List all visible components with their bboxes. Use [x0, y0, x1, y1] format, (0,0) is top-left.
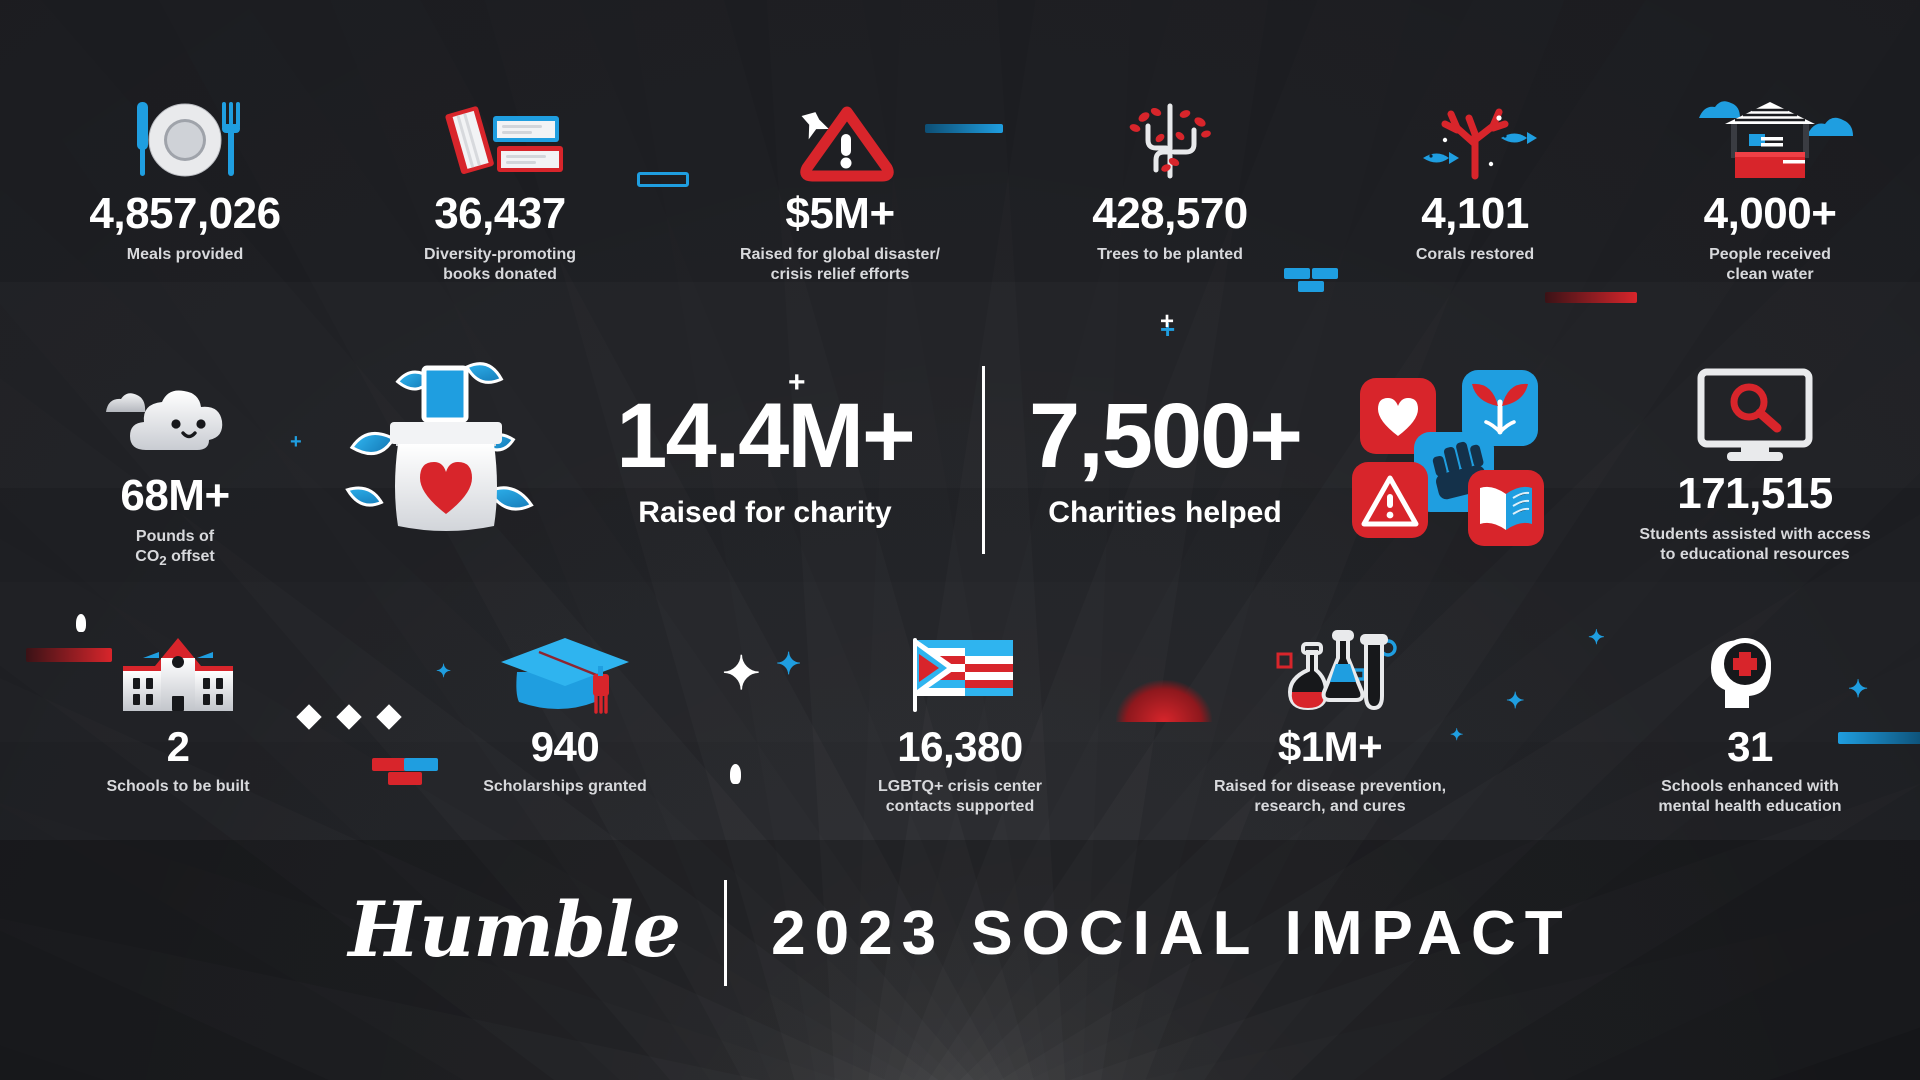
stat-disease-research: $1M+ Raised for disease prevention, rese…	[1180, 630, 1480, 818]
sparkle-icon: ✦	[1506, 690, 1524, 712]
stat-label: Schools enhanced with mental health educ…	[1600, 777, 1900, 818]
infographic-poster: 4,857,026 Meals provided	[0, 0, 1920, 1080]
decor-bar	[372, 758, 406, 771]
stat-value: 171,515	[1590, 472, 1920, 516]
stat-value: $1M+	[1180, 726, 1480, 768]
stat-value: 16,380	[820, 726, 1100, 768]
stat-value: 4,101	[1350, 192, 1600, 236]
stat-label-line2: clean water	[1726, 266, 1813, 283]
coral-fish-icon	[1350, 96, 1600, 180]
stat-label: Diversity-promoting books donated	[370, 245, 630, 286]
decor-outline-bar	[637, 172, 689, 187]
decor-bar	[1298, 281, 1324, 292]
stat-label: Raised for global disaster/ crisis relie…	[700, 245, 980, 286]
stat-label: Schools to be built	[58, 777, 298, 797]
stat-label-line2: crisis relief efforts	[771, 266, 910, 283]
lab-flasks-icon	[1180, 630, 1480, 714]
stat-value: 31	[1600, 726, 1900, 768]
books-icon	[370, 96, 630, 180]
footer: Humble 2023 SOCIAL IMPACT	[0, 880, 1920, 986]
stat-label-line1: People received	[1709, 246, 1831, 263]
stat-label: Raised for disease prevention, research,…	[1180, 777, 1480, 818]
plate-cutlery-icon	[60, 96, 310, 180]
head-medical-cross-icon	[1600, 630, 1900, 714]
stat-label-line1: Pounds of	[136, 528, 214, 545]
stat-value: 36,437	[370, 192, 630, 236]
water-well-icon	[1640, 96, 1900, 180]
stat-label: Meals provided	[60, 245, 310, 265]
stat-charities-helped: 7,500+ Charities helped	[1020, 390, 1310, 530]
stat-label: Trees to be planted	[1030, 245, 1310, 265]
decor-bar	[1312, 268, 1338, 279]
stat-disaster-relief: $5M+ Raised for global disaster/ crisis …	[700, 96, 980, 286]
sparkle-icon: ✦	[722, 650, 761, 696]
stat-label-line1: Diversity-promoting	[424, 246, 576, 263]
stat-students-assisted: 171,515 Students assisted with access to…	[1590, 368, 1920, 566]
decor-gradient-bar	[1545, 292, 1637, 303]
stat-value: 428,570	[1030, 192, 1310, 236]
stat-label-line1: LGBTQ+ crisis center	[878, 778, 1042, 795]
footer-divider	[724, 880, 727, 986]
stat-label-line1: Raised for disease prevention,	[1214, 778, 1446, 795]
decor-bar	[404, 758, 438, 771]
stat-raised-for-charity: 14.4M+ Raised for charity	[600, 390, 930, 530]
section-divider	[982, 366, 985, 554]
warning-triangle-icon	[700, 96, 980, 180]
stat-books-donated: 36,437 Diversity-promoting books donated	[370, 96, 630, 286]
sparkle-icon: +	[1160, 310, 1174, 334]
stat-label-line1: Raised for global disaster/	[740, 246, 940, 263]
humble-logo: Humble	[348, 892, 680, 974]
graduation-cap-icon	[440, 630, 690, 714]
decor-bar	[388, 772, 422, 785]
stat-value: 940	[440, 726, 690, 768]
stat-label: Corals restored	[1350, 245, 1600, 265]
poster-title: 2023 SOCIAL IMPACT	[771, 898, 1572, 969]
stat-label-line1: Students assisted with access	[1639, 526, 1870, 543]
stat-scholarships-granted: 940 Scholarships granted	[440, 630, 690, 797]
stat-mental-health-schools: 31 Schools enhanced with mental health e…	[1600, 630, 1900, 818]
schoolhouse-icon	[58, 630, 298, 714]
decor-diamond	[296, 704, 321, 729]
stat-trees-planted: 428,570 Trees to be planted	[1030, 96, 1310, 265]
stat-label-line2: research, and cures	[1254, 798, 1405, 815]
stat-label: Students assisted with access to educati…	[1590, 525, 1920, 566]
stat-label: Pounds of CO2 offset	[60, 527, 290, 570]
sparkle-icon: +	[290, 432, 302, 452]
stat-label: Raised for charity	[600, 496, 930, 530]
stat-label-line2: books donated	[443, 266, 557, 283]
stat-label-line2: mental health education	[1658, 798, 1841, 815]
sparkle-icon: ✦	[776, 650, 801, 680]
stat-value: 14.4M+	[600, 390, 930, 482]
decor-diamond	[336, 704, 361, 729]
stat-value: 4,857,026	[60, 192, 310, 236]
stat-value: 4,000+	[1640, 192, 1900, 236]
stat-lgbtq-crisis-support: 16,380 LGBTQ+ crisis center contacts sup…	[820, 630, 1100, 818]
donation-jar-icon	[338, 348, 588, 548]
pride-flag-icon	[820, 630, 1100, 714]
stat-meals-provided: 4,857,026 Meals provided	[60, 96, 310, 265]
stat-value: 68M+	[60, 474, 290, 518]
stat-co2-offset: 68M+ Pounds of CO2 offset	[60, 370, 290, 570]
stat-value: 2	[58, 726, 298, 768]
sparkle-icon: +	[1160, 316, 1175, 342]
stat-label-line2: contacts supported	[886, 798, 1034, 815]
person-glyph	[730, 764, 741, 784]
decor-bar	[1284, 268, 1310, 279]
stat-label-line2: to educational resources	[1660, 546, 1849, 563]
stat-schools-built: 2 Schools to be built	[58, 630, 298, 797]
stat-label: Charities helped	[1020, 496, 1310, 530]
stat-clean-water: 4,000+ People received clean water	[1640, 96, 1900, 286]
stat-label-line2: CO2 offset	[135, 548, 214, 565]
charity-category-tiles-icon	[1340, 366, 1550, 556]
monitor-search-icon	[1590, 368, 1920, 460]
stat-label-line1: Schools enhanced with	[1661, 778, 1839, 795]
stat-label: People received clean water	[1640, 245, 1900, 286]
stat-value: $5M+	[700, 192, 980, 236]
happy-cloud-icon	[60, 370, 290, 462]
stat-corals-restored: 4,101 Corals restored	[1350, 96, 1600, 265]
cactus-icon	[1030, 96, 1310, 180]
stat-value: 7,500+	[1020, 390, 1310, 482]
stat-label: LGBTQ+ crisis center contacts supported	[820, 777, 1100, 818]
decor-diamond	[376, 704, 401, 729]
stat-label: Scholarships granted	[440, 777, 690, 797]
